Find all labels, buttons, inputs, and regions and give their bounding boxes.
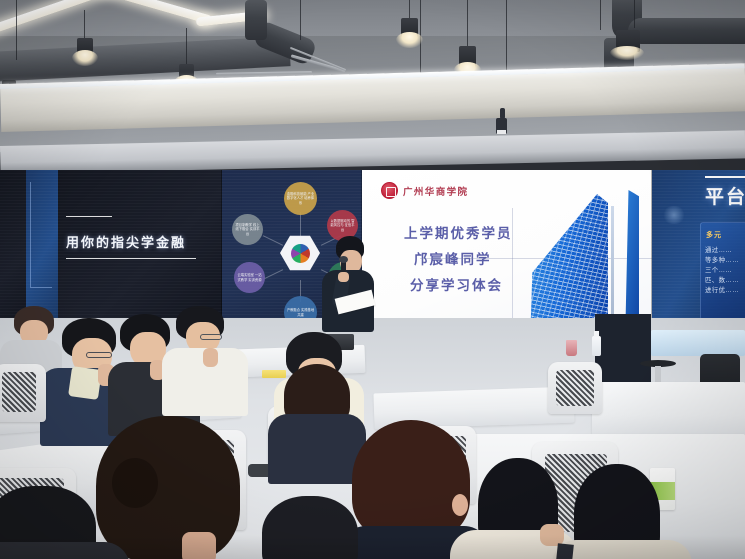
sticky-note <box>262 370 286 378</box>
color-wheel-icon <box>291 244 310 263</box>
collar-icon <box>68 366 102 400</box>
presenter-hand <box>338 272 349 282</box>
hand-sanitizer <box>592 336 601 356</box>
drink-cup <box>566 340 577 356</box>
conduit-pipe <box>216 71 312 75</box>
ceiling <box>0 0 745 152</box>
slide-rule-top <box>66 216 112 217</box>
hvac-duct-right-arm <box>628 18 745 44</box>
hvac-duct-riser <box>245 0 267 40</box>
classroom-area <box>0 318 745 559</box>
back-table <box>592 382 745 442</box>
hvac-duct <box>0 36 291 82</box>
right-slide-rule <box>705 176 745 178</box>
star-glow <box>662 206 686 224</box>
slide-guide-rule <box>512 208 513 328</box>
floor-shadow <box>0 535 745 559</box>
hex-node: 金融科技赋能 产业数字化人才 培养体系 <box>284 182 317 215</box>
center-slide-line-1: 上学期优秀学员 <box>404 222 513 242</box>
right-slide-title: 平台 <box>705 182 745 209</box>
sanitizer-pump-icon <box>594 331 599 337</box>
logo-text: 广州华商学院 <box>403 184 468 198</box>
audience-hand <box>203 348 218 367</box>
hex-node: 云端实验室 一站式教学 实训资源 <box>234 262 265 293</box>
microphone-head-icon <box>339 256 348 263</box>
back-window-strip <box>651 330 745 356</box>
center-slide-line-3: 分享学习体会 <box>410 274 503 294</box>
ear-icon <box>452 494 468 516</box>
logo-seal-icon <box>381 182 398 199</box>
slide-guide-rule <box>420 258 652 259</box>
hair-bun-icon <box>112 458 158 508</box>
lecture-hall-photo: 用你的指尖学金融 金融科技赋能 产业数字化人才 培养体系 以数据驱动的 智能风控… <box>0 0 745 559</box>
eyeglasses-icon <box>200 334 222 340</box>
panel-frame-line <box>30 287 52 288</box>
hex-node: 项目制教学 线上线下融合 实训平台 <box>232 214 263 245</box>
right-slide-badge: 多元 <box>706 230 722 240</box>
university-logo: 广州华商学院 <box>381 182 468 199</box>
panel-frame-line <box>30 182 31 287</box>
left-slide-title: 用你的指尖学金融 <box>66 232 186 251</box>
slide-rule-bottom <box>66 258 196 259</box>
right-slide-body: 通过…… 等多种…… 三个…… 匹、数…… 进行优…… <box>705 246 745 308</box>
eyeglasses-icon <box>86 352 112 358</box>
